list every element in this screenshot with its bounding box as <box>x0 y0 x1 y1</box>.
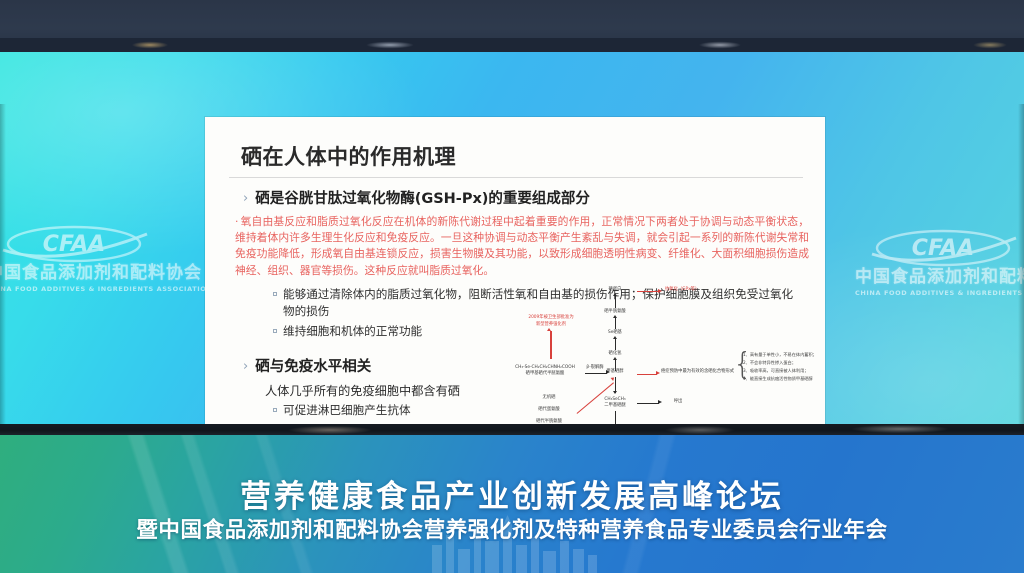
diagram-arrowhead-up-3 <box>613 336 617 339</box>
diagram-node-antioxidant: 抗氧化（GPx等） <box>665 287 725 292</box>
diagram-node-hydrogen-selenide: 硒化氢 <box>597 351 633 356</box>
diagram-node-selenoprotein: 硒蛋白 <box>597 287 633 292</box>
diagram-node-inorganic-se: 无机硒 <box>519 395 579 400</box>
diagram-node-dimethylselenide-formula: CH₃SeCH₃ <box>597 397 633 402</box>
red-paragraph: ·氧自由基反应和脂质过氧化反应在机体的新陈代谢过程中起着重要的作用，正常情况下两… <box>235 214 809 280</box>
diagram-node-cancer-prevention: 癌症预防中最为有效的含硒化合物形式 <box>661 369 729 374</box>
diagram-arrow-up-2 <box>615 317 616 329</box>
screen-vignette-left <box>0 104 6 476</box>
diagram-arrowhead-red-2 <box>656 371 660 375</box>
diagram-note-4: 4、能直接生成抗癌活性物质甲基硒醇 <box>743 375 813 383</box>
square-bullet-icon <box>273 292 277 296</box>
diagram-arrow-red-up <box>550 331 552 359</box>
diagram-arrowhead-up-1 <box>613 293 617 296</box>
diagram-node-methylselenocysteine: 硒甲基硒代半胱氨酸 <box>507 371 583 376</box>
diagram-arrowhead-up-2 <box>613 315 617 318</box>
square-bullet-icon <box>273 408 277 412</box>
diagram-arrowhead-red-up <box>547 328 551 331</box>
diagram-annotation-approval-line1: 2009年被卫生部批准为 <box>513 315 589 320</box>
screen-vignette-right <box>1018 104 1024 476</box>
square-bullet-icon <box>273 329 277 333</box>
diagram-arrowhead-right-2 <box>658 400 662 404</box>
cfaa-logo-right: CFAA 中国食品添加剂和配料协会 CHINA FOOD ADDITIVES &… <box>855 228 1024 297</box>
diagram-arrow-up-1 <box>615 295 616 308</box>
slide-title: 硒在人体中的作用机理 <box>241 141 809 171</box>
section-heading-1: › 硒是谷胱甘肽过氧化物酶(GSH-Px)的重要组成部分 <box>243 190 809 210</box>
banner-title-line1: 营养健康食品产业创新发展高峰论坛 <box>0 471 1024 516</box>
chevron-right-icon: › <box>243 358 248 376</box>
section-heading-2-label: 硒与免疫水平相关 <box>255 358 371 378</box>
stage-shadow-strip <box>0 424 1024 435</box>
diagram-arrowhead-down-1 <box>613 391 617 394</box>
chevron-right-icon: › <box>243 190 248 208</box>
diagram-node-methylselenol: 甲基硒醇 <box>597 369 633 374</box>
diagram-note-2: 2、不会非特异性掺入蛋白； <box>743 359 796 367</box>
banner-title-line2: 暨中国食品添加剂和配料协会营养强化剂及特种营养食品专业委员会行业年会 <box>0 513 1024 544</box>
red-paragraph-text: 氧自由基反应和脂质过氧化反应在机体的新陈代谢过程中起着重要的作用，正常情况下两者… <box>235 215 809 277</box>
section-2-bullet-1-label: 可促进淋巴细胞产生抗体 <box>283 402 411 418</box>
cfaa-name-en-left: CHINA FOOD ADDITIVES & INGREDIENTS ASSOC… <box>0 285 161 293</box>
diagram-arrowhead-red <box>658 289 662 293</box>
diagram-node-dimethylselenide: 二甲基硒醚 <box>597 403 633 408</box>
diagram-node-se-group: Se硒基 <box>597 330 633 335</box>
presentation-slide: 硒在人体中的作用机理 › 硒是谷胱甘肽过氧化物酶(GSH-Px)的重要组成部分 … <box>205 117 825 475</box>
cfaa-logo-left: CFAA 中国食品添加剂和配料协会 CHINA FOOD ADDITIVES &… <box>0 224 161 293</box>
diagram-arrow-right-2 <box>637 403 659 404</box>
diagram-arrowhead-up-4 <box>613 357 617 360</box>
diagram-annotation-approval-line2: 新型营养强化剂 <box>513 322 589 327</box>
diagram-node-selenocysteine-top: 硒半胱氨酸 <box>597 309 633 314</box>
diagram-arrow-up-3 <box>615 338 616 350</box>
diagram-arrow-red-cancer <box>637 374 657 375</box>
diagram-note-1: 1、高有量于单性小，不易在体内蓄积； <box>743 351 817 359</box>
stage-strip-glow <box>0 424 1024 435</box>
diagram-node-selenomethionine: 硒代蛋氨酸 <box>519 407 579 412</box>
red-bullet-dot-icon: · <box>235 215 238 228</box>
svg-text:CFAA: CFAA <box>42 232 104 257</box>
cfaa-name-en-right: CHINA FOOD ADDITIVES & INGREDIENTS ASSOC… <box>855 289 1024 297</box>
section-heading-1-label: 硒是谷胱甘肽过氧化物酶(GSH-Px)的重要组成部分 <box>255 190 590 210</box>
ceiling-lights <box>0 38 1024 52</box>
diagram-arrow-red-antioxidant <box>637 291 659 292</box>
svg-text:CFAA: CFAA <box>911 236 973 261</box>
diagram-node-exhaled: 呼出 <box>663 399 693 404</box>
event-banner: 营养健康食品产业创新发展高峰论坛 暨中国食品添加剂和配料协会营养强化剂及特种营养… <box>0 435 1024 573</box>
cfaa-swoosh-icon-right: CFAA <box>855 228 1024 268</box>
ceiling-band <box>0 0 1024 52</box>
cfaa-swoosh-icon: CFAA <box>0 224 161 264</box>
section-1-bullet-2-label: 维持细胞和机体的正常功能 <box>283 323 422 339</box>
diagram-note-3: 3、吸收率高，可直接被人体利用； <box>743 367 808 375</box>
title-divider <box>229 177 803 178</box>
led-screen: CFAA 中国食品添加剂和配料协会 CHINA FOOD ADDITIVES &… <box>0 52 1024 424</box>
cfaa-name-cn-left: 中国食品添加剂和配料协会 <box>0 264 161 283</box>
cfaa-name-cn-right: 中国食品添加剂和配料协会 <box>855 268 1024 287</box>
diagram-node-formula: CH₃-Se-CH₂CH₂CHNH₂COOH <box>507 365 583 370</box>
photo-stage: CFAA 中国食品添加剂和配料协会 CHINA FOOD ADDITIVES &… <box>0 0 1024 573</box>
